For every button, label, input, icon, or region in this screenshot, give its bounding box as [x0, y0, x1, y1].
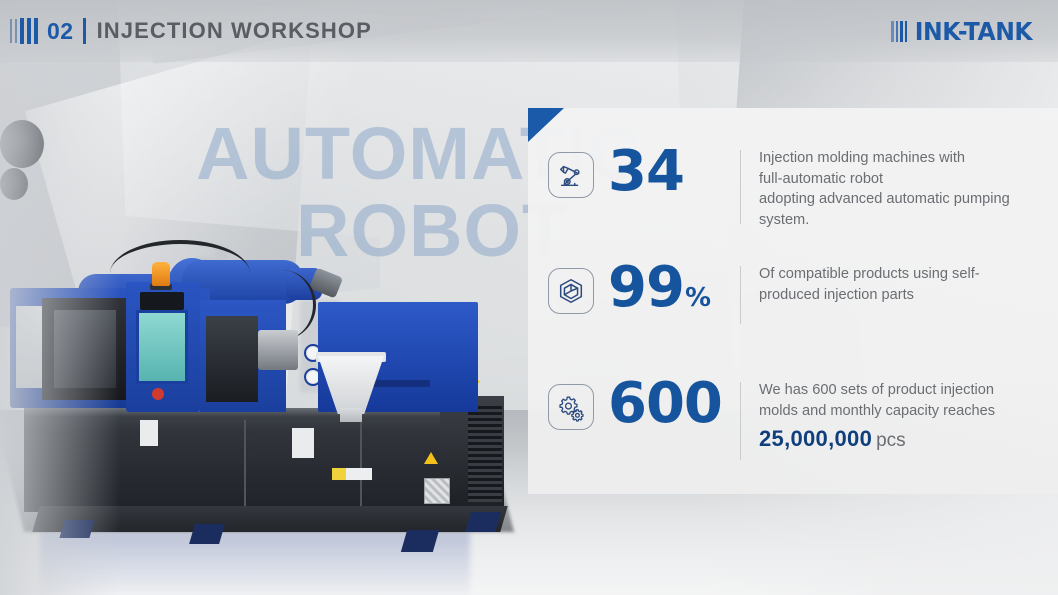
marker-bar-thin [15, 19, 17, 43]
machine-vent-grille [468, 406, 502, 502]
stat-desc-line-2: full-automatic robot [759, 171, 883, 187]
panel-corner-accent [528, 108, 564, 142]
control-display-top [140, 292, 184, 310]
emergency-stop-button [152, 388, 164, 400]
section-number: 02 [47, 18, 74, 45]
stat-description: Injection molding machines with full-aut… [759, 144, 1058, 231]
stat-value: 99 % [608, 260, 734, 316]
machine-foot [401, 530, 439, 552]
machine-foot [465, 512, 501, 532]
stat-description: Of compatible products using self- produ… [759, 260, 980, 305]
stats-panel: 34 Injection molding machines with full-… [528, 108, 1058, 494]
gears-icon [548, 384, 594, 430]
header-separator [83, 18, 86, 44]
stat-number: 600 [608, 376, 722, 432]
stat-desc-line-2: molds and monthly capacity reaches [759, 403, 995, 419]
status-beacon-light [152, 262, 170, 286]
stat-desc-line-2: produced injection parts [759, 287, 914, 303]
stat-unit: % [685, 283, 711, 313]
stat-divider [740, 382, 741, 460]
photo-left-fade [0, 0, 120, 595]
stat-highlight-unit: pcs [876, 430, 906, 451]
stat-number: 34 [608, 144, 684, 200]
marker-bar [20, 18, 24, 44]
stat-highlight-value: 25,000,000 [759, 423, 872, 454]
section-marker-bars [10, 18, 38, 44]
logo-text: INK-TANK [915, 17, 1032, 46]
robot-arm-icon [548, 152, 594, 198]
marker-bar [27, 18, 31, 44]
stat-row: 34 Injection molding machines with full-… [528, 144, 1058, 231]
machine-panel-seam [360, 416, 362, 506]
injection-barrel [258, 330, 298, 370]
warning-triangle-icon [424, 452, 438, 464]
machine-foot [189, 524, 225, 544]
stat-divider [740, 266, 741, 324]
marker-bar-thin [10, 19, 12, 43]
machine-panel-seam [244, 420, 246, 506]
stat-value: 600 [608, 376, 734, 432]
brand-logo: INK-TANK [891, 17, 1036, 46]
machine-spec-label [140, 420, 158, 446]
stat-desc-line-3: adopting advanced automatic pumping syst… [759, 191, 1010, 228]
stat-value: 34 [608, 144, 734, 200]
header-bar: 02 INJECTION WORKSHOP INK-TANK [0, 0, 1058, 62]
machine-mid-dark-panel [206, 316, 258, 402]
stat-description: We has 600 sets of product injection mol… [759, 376, 995, 455]
cube-hexagon-icon [548, 268, 594, 314]
machine-mesh-vent [424, 478, 450, 504]
machine-warning-sticker [332, 468, 372, 480]
page-title: INJECTION WORKSHOP [97, 18, 372, 44]
machine-spec-label [292, 428, 314, 458]
stat-desc-line-1: We has 600 sets of product injection [759, 382, 994, 398]
hopper-throat [340, 408, 362, 422]
stat-row: 600 We has 600 sets of product injection… [528, 376, 1058, 460]
stat-divider [740, 150, 741, 224]
logo-stripes-icon [891, 21, 907, 42]
control-screen [136, 310, 188, 384]
stat-row: 99 % Of compatible products using self- … [528, 260, 1058, 324]
robot-cable-loop [110, 240, 250, 280]
marker-bar [34, 18, 38, 44]
stat-desc-line-1: Of compatible products using self- [759, 266, 980, 282]
stat-desc-line-1: Injection molding machines with [759, 150, 965, 166]
stat-number: 99 [608, 260, 684, 316]
